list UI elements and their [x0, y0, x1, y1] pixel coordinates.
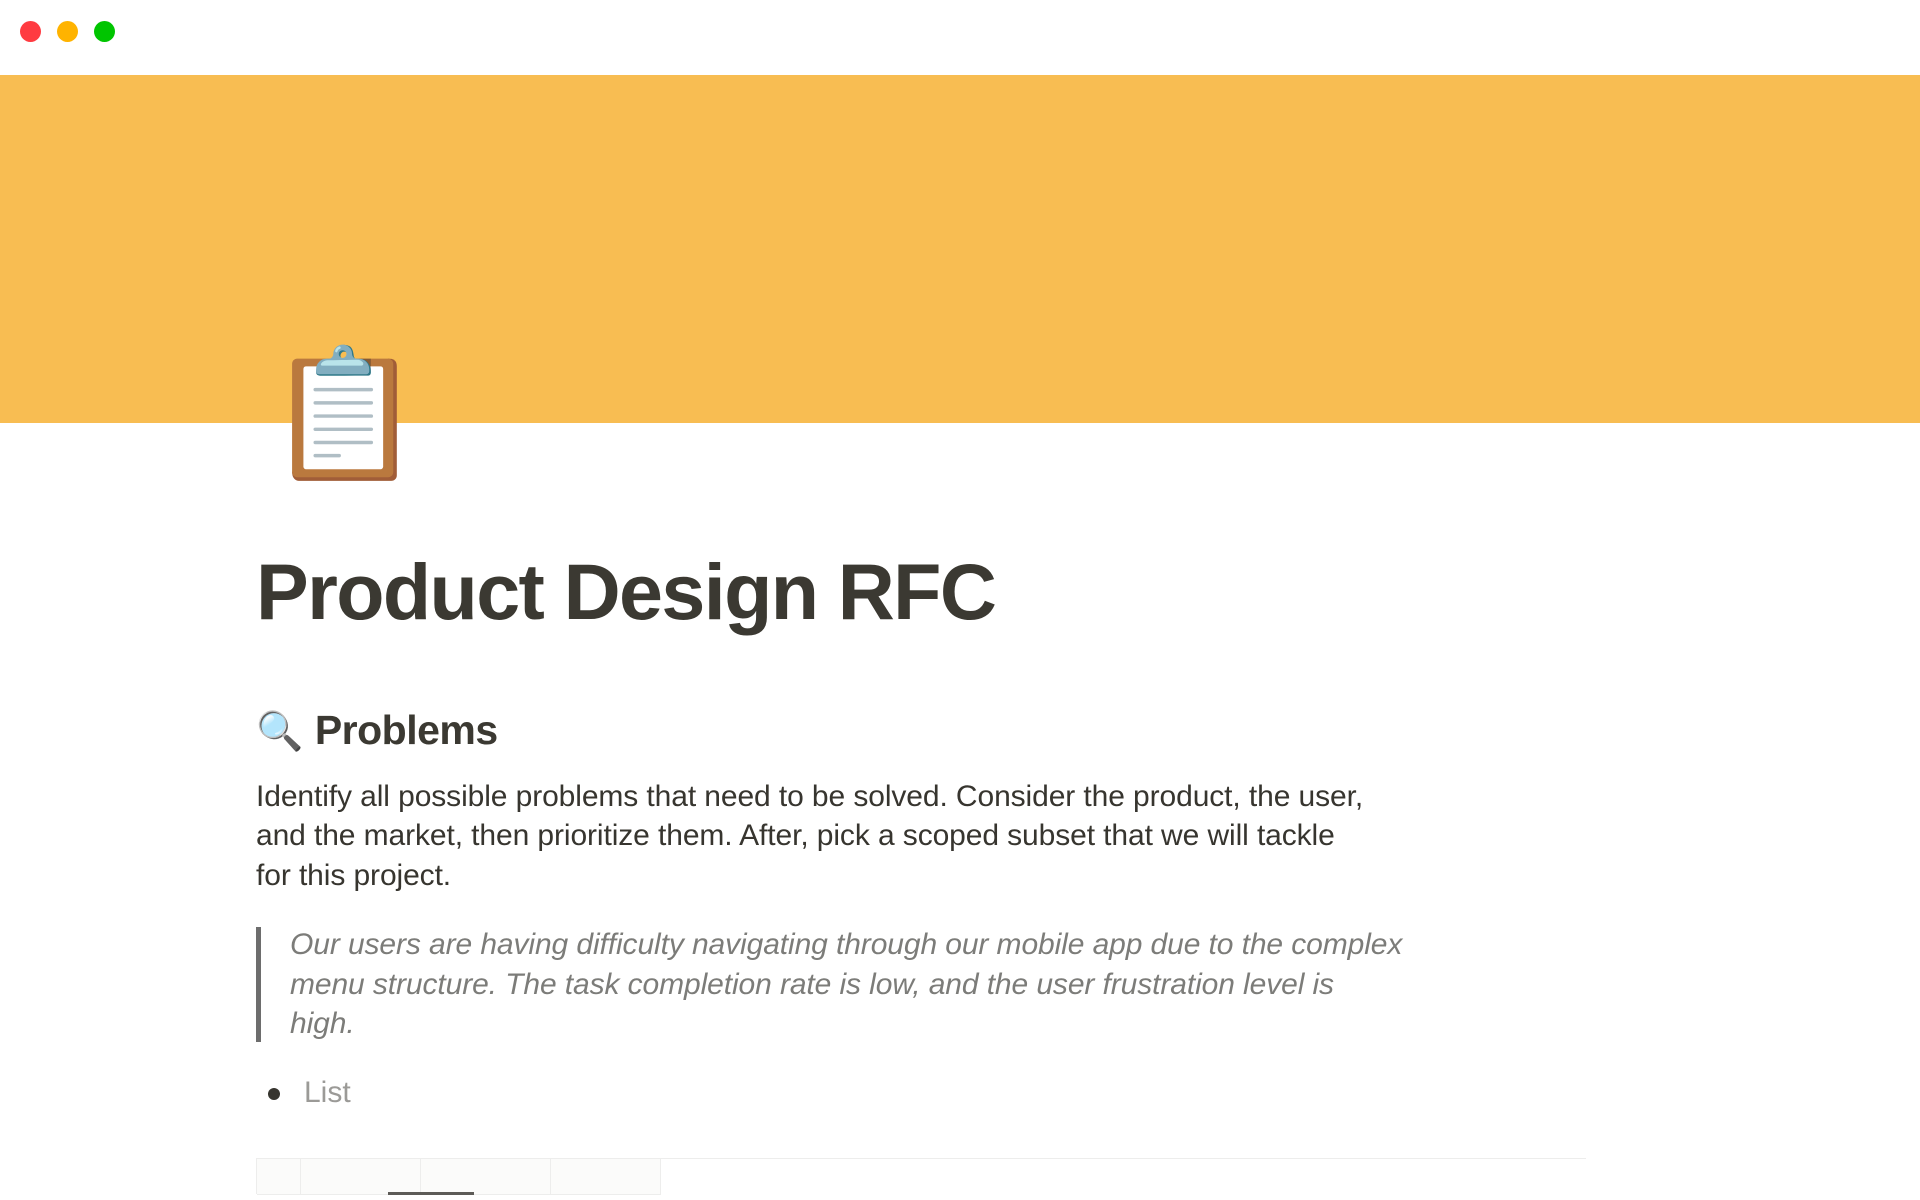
table-cell[interactable] — [551, 1159, 661, 1195]
bulleted-list: List — [256, 1072, 1676, 1114]
window-controls — [20, 21, 115, 42]
table-block-partial[interactable] — [256, 1158, 1616, 1198]
list-item[interactable]: List — [268, 1072, 1676, 1114]
zoom-window-button[interactable] — [94, 21, 115, 42]
table-cell[interactable] — [421, 1159, 551, 1195]
minimize-window-button[interactable] — [57, 21, 78, 42]
document-content-column: Product Design RFC 🔍 Problems Identify a… — [256, 423, 1676, 1198]
page-title[interactable]: Product Design RFC — [256, 552, 1676, 631]
close-window-button[interactable] — [20, 21, 41, 42]
section-heading-label: Problems — [315, 705, 498, 756]
table-row[interactable] — [256, 1158, 1586, 1194]
blockquote[interactable]: Our users are having difficulty navigati… — [256, 925, 1406, 1044]
list-item-placeholder: List — [304, 1072, 351, 1114]
app-window: 📋 Product Design RFC 🔍 Problems Identify… — [0, 0, 1920, 1200]
clipboard-emoji-icon[interactable]: 📋 — [266, 340, 414, 488]
blockquote-bar — [256, 927, 261, 1042]
table-column-resize-handle[interactable] — [388, 1192, 474, 1195]
document-body: Product Design RFC 🔍 Problems Identify a… — [0, 423, 1920, 1200]
magnifying-glass-emoji-icon: 🔍 — [256, 709, 303, 757]
section-paragraph[interactable]: Identify all possible problems that need… — [256, 777, 1376, 896]
table-cell[interactable] — [301, 1159, 421, 1195]
blockquote-text: Our users are having difficulty navigati… — [290, 925, 1406, 1044]
section-heading-problems[interactable]: 🔍 Problems — [256, 705, 1676, 757]
window-titlebar — [0, 0, 1920, 75]
bullet-dot-icon — [268, 1088, 280, 1100]
table-cell[interactable] — [257, 1159, 301, 1195]
